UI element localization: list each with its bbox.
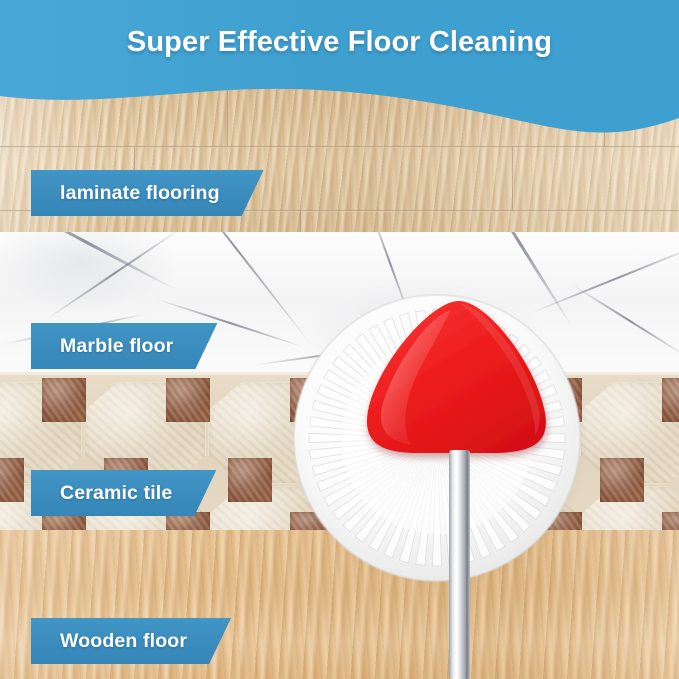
label-tag-text: Marble floor	[60, 335, 173, 358]
label-tag-text: laminate flooring	[60, 182, 220, 205]
product-infographic: Super Effective Floor Cleaning	[0, 0, 679, 679]
spin-mop-product-image	[291, 238, 591, 679]
label-tag-ceramic-tile[interactable]: Ceramic tile	[31, 470, 216, 516]
label-tag-laminate-flooring[interactable]: laminate flooring	[31, 170, 264, 216]
label-tag-text: Ceramic tile	[60, 482, 172, 505]
label-tag-text: Wooden floor	[60, 630, 187, 653]
label-tag-wooden-floor[interactable]: Wooden floor	[31, 618, 231, 664]
label-tag-marble-floor[interactable]: Marble floor	[31, 323, 217, 369]
page-title: Super Effective Floor Cleaning	[0, 26, 679, 59]
